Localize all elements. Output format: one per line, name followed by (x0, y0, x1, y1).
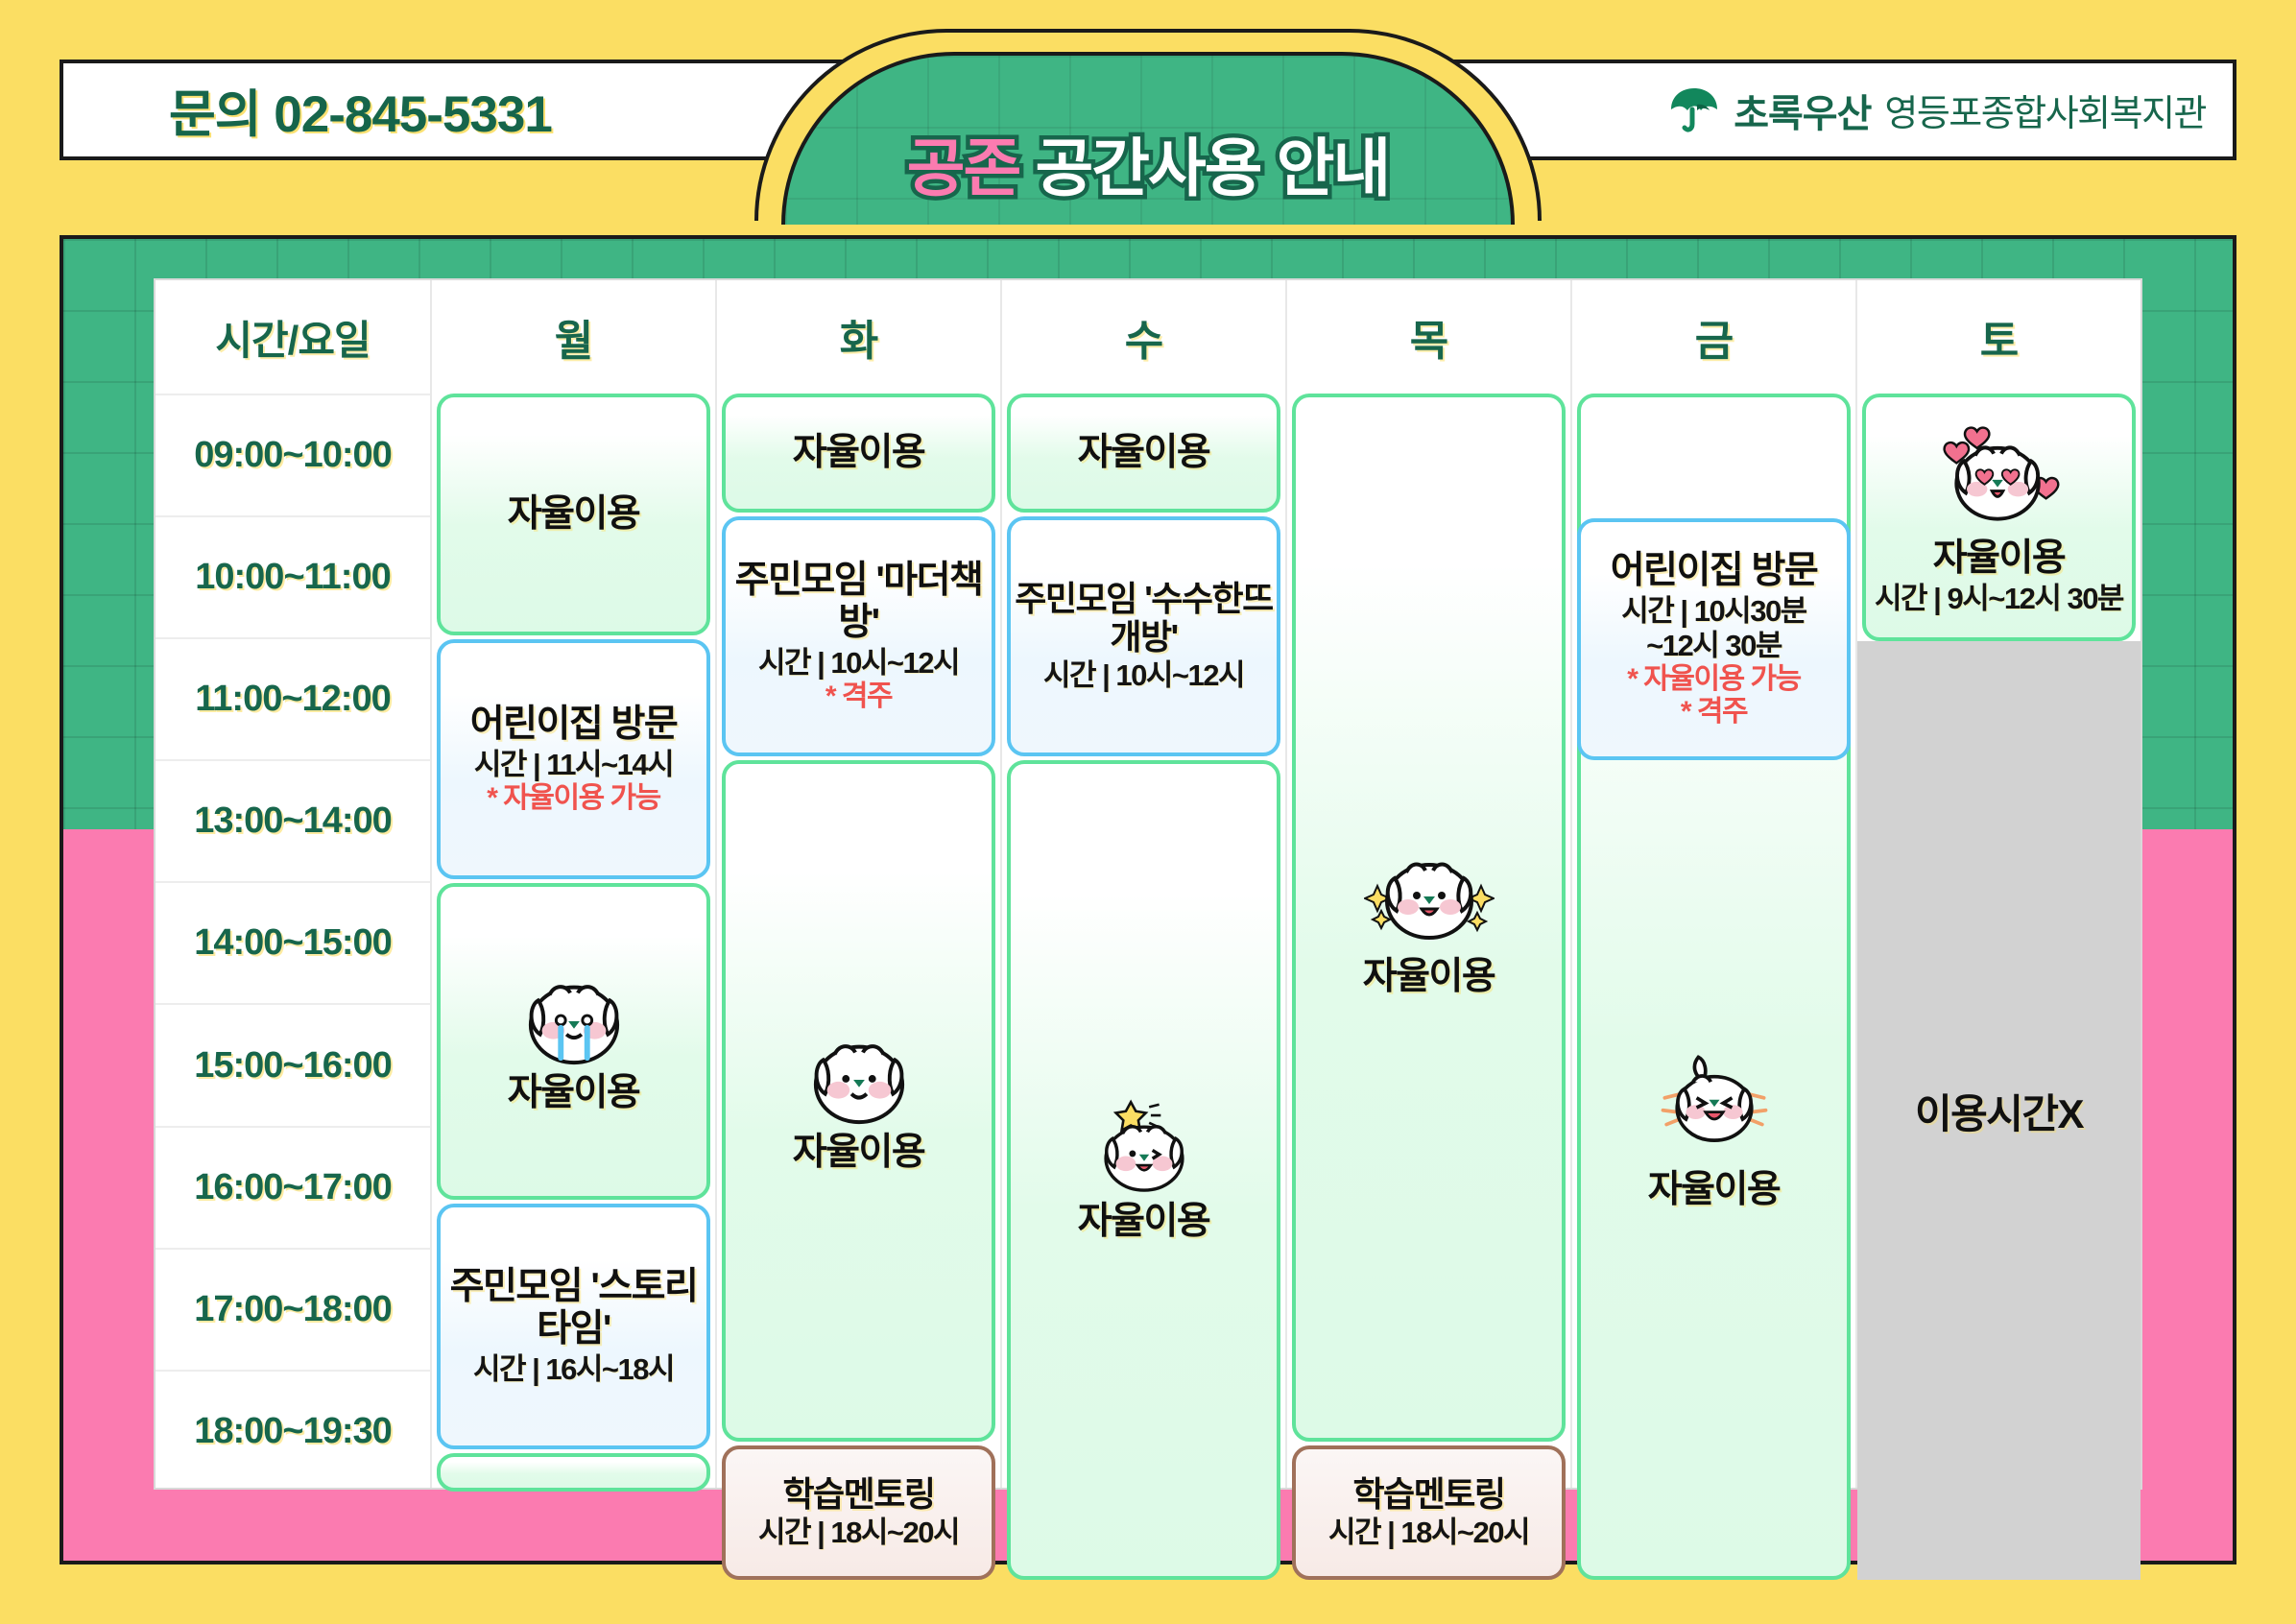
day-column-tue: 화 자율이용 주민모임 '마더책방' 시간 | 10시~12시 * 격주 (715, 280, 1000, 1488)
dog-smile-sticker (802, 1028, 916, 1128)
card-subtitle: 시간 | 10시30분 ~12시 30분 (1621, 594, 1806, 663)
page-title: 공존 공간사용 안내 (785, 117, 1511, 209)
column-header-time: 시간/요일 (155, 280, 430, 394)
card-title: 주민모임 '스토리타임' (444, 1266, 703, 1349)
day-body-fri: 자율이용 어린이집 방문 시간 | 10시30분 ~12시 30분 * 자율이용… (1572, 394, 1855, 1488)
schedule-card[interactable]: 어린이집 방문 시간 | 11시~14시 * 자율이용 가능 (437, 639, 710, 879)
card-subtitle: 시간 | 18시~20시 (758, 1516, 959, 1550)
title-arch: 공존 공간사용 안내 (754, 29, 1542, 221)
column-header-fri: 금 (1572, 280, 1855, 394)
day-column-wed: 수 자율이용 주민모임 '수수한뜨개방' 시간 | 10시~12시 (1000, 280, 1285, 1488)
day-body-thu: 자율이용 학습멘토링 시간 | 18시~20시 (1287, 394, 1570, 1488)
time-row: 14:00~15:00 (155, 881, 430, 1003)
card-note: * 격주 (825, 681, 892, 713)
schedule-card[interactable]: 학습멘토링 시간 | 18시~20시 (722, 1445, 995, 1580)
arch-green-fill: 공존 공간사용 안내 (781, 52, 1515, 225)
card-note: * 자율이용 가능 (487, 782, 659, 815)
schedule-card[interactable]: 주민모임 '수수한뜨개방' 시간 | 10시~12시 (1007, 516, 1280, 756)
schedule-card[interactable]: 자율이용 (722, 394, 995, 513)
column-header-mon: 월 (432, 280, 715, 394)
schedule-card[interactable]: 주민모임 '마더책방' 시간 | 10시~12시 * 격주 (722, 516, 995, 756)
day-body-mon: 자율이용 어린이집 방문 시간 | 11시~14시 * 자율이용 가능 (432, 394, 715, 1488)
time-row: 18:00~19:30 (155, 1370, 430, 1492)
time-column: 시간/요일 09:00~10:00 10:00~11:00 11:00~12:0… (155, 280, 430, 1488)
time-row: 13:00~14:00 (155, 759, 430, 881)
schedule-card[interactable]: 자율이용 (437, 394, 710, 635)
schedule-card[interactable]: 주민모임 '스토리타임' 시간 | 16시~18시 (437, 1204, 710, 1449)
time-row: 09:00~10:00 (155, 394, 430, 515)
column-header-tue: 화 (717, 280, 1000, 394)
contact-text: 문의 02-845-5331 (169, 74, 552, 147)
card-subtitle: 시간 | 16시~18시 (473, 1352, 674, 1387)
dog-laugh-sticker (1649, 1050, 1780, 1165)
card-subtitle: 시간 | 11시~14시 (474, 748, 673, 782)
unavailable-block: 이용시간X (1857, 641, 2141, 1580)
card-subtitle: 시간 | 18시~20시 (1328, 1516, 1529, 1550)
card-title: 주민모임 '마더책방' (729, 560, 988, 643)
day-body-tue: 자율이용 주민모임 '마더책방' 시간 | 10시~12시 * 격주 (717, 394, 1000, 1488)
logo-main-text: 초록우산 (1734, 83, 1871, 138)
logo-sub-text: 영등포종합사회복지관 (1884, 84, 2206, 136)
card-title: 학습멘토링 (782, 1475, 934, 1514)
time-row: 15:00~16:00 (155, 1003, 430, 1125)
schedule-card[interactable]: 학습멘토링 시간 | 18시~20시 (1292, 1445, 1566, 1580)
card-title: 자율이용 (793, 432, 925, 474)
unavailable-label: 이용시간X (1915, 1082, 2083, 1140)
umbrella-icon (1668, 84, 1720, 136)
dog-hearts-sticker (1934, 418, 2065, 534)
schedule-card[interactable]: 자율이용 (722, 760, 995, 1442)
card-title: 자율이용 (1078, 1201, 1210, 1243)
column-header-wed: 수 (1002, 280, 1285, 394)
dog-sparkle-sticker (1364, 837, 1495, 952)
column-header-thu: 목 (1287, 280, 1570, 394)
card-title: 어린이집 방문 (1611, 550, 1818, 592)
day-body-sat: 자율이용 시간 | 9시~12시 30분 이용시간X (1857, 394, 2141, 1488)
card-subtitle: 시간 | 10시~12시 (1043, 658, 1244, 693)
schedule-card[interactable]: 어린이집 방문 시간 | 10시30분 ~12시 30분 * 자율이용 가능 *… (1577, 518, 1851, 760)
page-title-rest: 공간사용 안내 (1019, 132, 1389, 203)
card-title: 자율이용 (508, 1072, 640, 1114)
schedule-card[interactable]: 자율이용 (1292, 394, 1566, 1442)
card-subtitle: 시간 | 10시~12시 (758, 646, 959, 681)
day-column-sat: 토 (1855, 280, 2141, 1488)
card-title: 자율이용 (1933, 537, 2066, 580)
schedule-table: 시간/요일 09:00~10:00 10:00~11:00 11:00~12:0… (154, 278, 2142, 1490)
card-title: 자율이용 (508, 493, 640, 536)
card-title: 자율이용 (1078, 432, 1210, 474)
card-title: 자율이용 (1363, 956, 1495, 998)
card-title: 주민모임 '수수한뜨개방' (1015, 580, 1273, 657)
day-column-mon: 월 자율이용 어린이집 방문 시간 | 11시~14시 * 자율이용 가능 (430, 280, 715, 1488)
time-row: 10:00~11:00 (155, 515, 430, 637)
schedule-card-spacer (437, 1453, 710, 1492)
card-note: * 자율이용 가능 * 격주 (1627, 663, 1800, 728)
card-title: 어린이집 방문 (470, 704, 678, 746)
card-subtitle: 시간 | 9시~12시 30분 (1875, 582, 2123, 616)
day-column-fri: 금 (1570, 280, 1855, 1488)
column-header-sat: 토 (1857, 280, 2141, 394)
schedule-card[interactable]: 자율이용 시간 | 9시~12시 30분 (1862, 394, 2136, 641)
page-title-highlight: 공존 (907, 132, 1019, 203)
card-title: 자율이용 (793, 1132, 925, 1174)
day-body-wed: 자율이용 주민모임 '수수한뜨개방' 시간 | 10시~12시 (1002, 394, 1285, 1488)
day-column-thu: 목 (1285, 280, 1570, 1488)
schedule-card[interactable]: 자율이용 (1007, 760, 1280, 1580)
card-title: 학습멘토링 (1352, 1475, 1504, 1514)
time-row: 16:00~17:00 (155, 1126, 430, 1248)
dog-star-wink-sticker (1088, 1097, 1201, 1197)
schedule-card[interactable]: 자율이용 (1007, 394, 1280, 513)
time-row: 11:00~12:00 (155, 637, 430, 759)
schedule-card[interactable]: 자율이용 (437, 883, 710, 1200)
dog-crying-sticker (517, 968, 631, 1068)
poster-root: 문의 02-845-5331 초록우산 영등포종합사회복지관 공존 공간사용 안… (0, 0, 2296, 1624)
card-title: 자율이용 (1648, 1169, 1781, 1211)
time-row: 17:00~18:00 (155, 1248, 430, 1370)
